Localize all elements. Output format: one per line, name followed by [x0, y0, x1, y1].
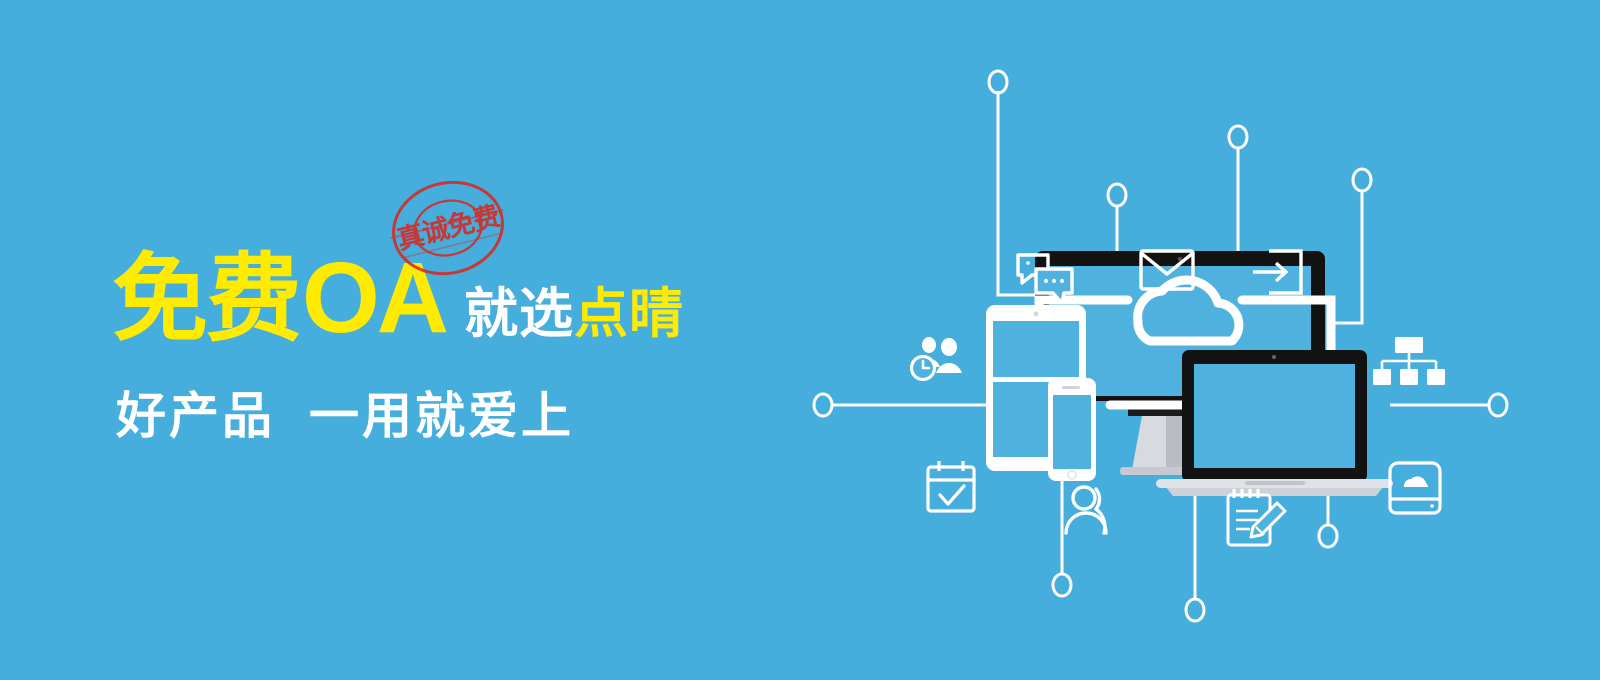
headline-free: 免费 — [112, 252, 300, 348]
tagline-part-one: 好产品 — [116, 388, 275, 444]
node-dot — [814, 394, 832, 416]
node-dot — [1229, 126, 1247, 148]
tagline: 好产品一用就爱上 — [116, 376, 574, 448]
user-icon — [1066, 487, 1106, 533]
stamp-svg: 真诚免费 — [378, 178, 518, 278]
node-dot — [989, 71, 1007, 93]
illustration-svg — [790, 55, 1530, 625]
notepad-pencil-icon — [1228, 489, 1285, 545]
sincere-free-stamp: 真诚免费 — [378, 178, 518, 278]
node-dot — [1319, 525, 1337, 547]
cloud-drive-icon — [1390, 463, 1440, 513]
calendar-check-icon — [928, 461, 974, 511]
smartphone — [1048, 378, 1096, 481]
attendance-clock-icon — [912, 337, 963, 380]
headline-choose: 就选 — [464, 287, 574, 341]
headline-block: 免费 OA 就选 点晴 好产品一用就爱上 — [112, 248, 752, 468]
node-dot — [1186, 599, 1204, 621]
node-dot — [1108, 184, 1126, 206]
tagline-part-two: 一用就爱上 — [309, 388, 574, 444]
headline-brand: 点晴 — [574, 287, 684, 341]
laptop — [1156, 350, 1393, 496]
org-chart-icon — [1373, 337, 1445, 385]
oa-promo-banner: 免费 OA 就选 点晴 好产品一用就爱上 真诚免费 — [0, 0, 1600, 680]
node-dot — [1489, 394, 1507, 416]
node-dot — [1053, 574, 1071, 596]
node-dot — [1353, 169, 1371, 191]
devices-illustration — [790, 55, 1530, 625]
